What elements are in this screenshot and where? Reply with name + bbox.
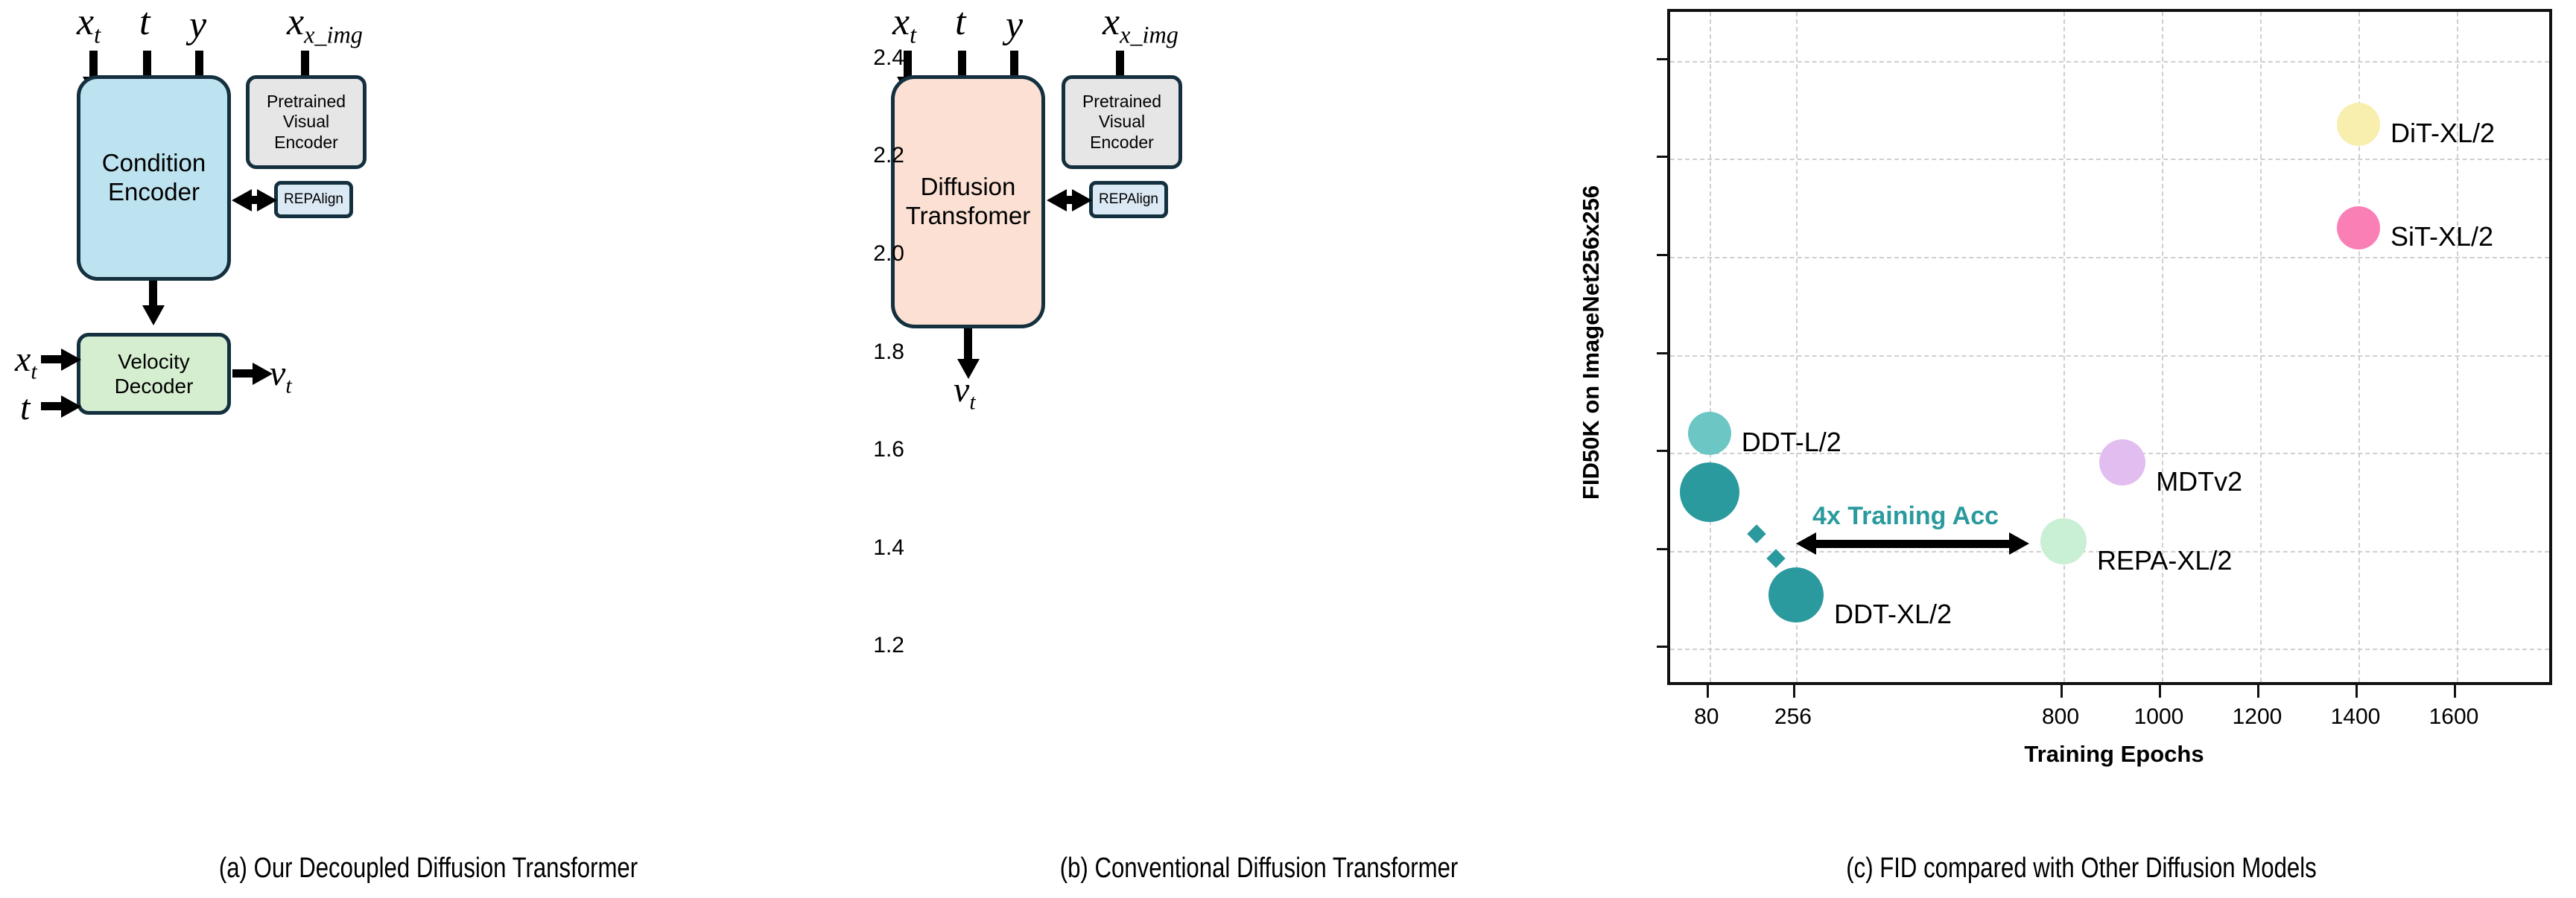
- chart-y-tick-mark: [1657, 352, 1669, 354]
- output-symbol-vt-b: vt: [954, 372, 976, 413]
- chart-y-tick-label: 2.0: [873, 241, 904, 267]
- chart-bubble-label: MDTv2: [2156, 466, 2242, 497]
- pretrained-encoder-line1-b: Pretrained: [1082, 92, 1161, 112]
- pretrained-encoder-line2-b: Visual: [1082, 112, 1161, 132]
- pretrained-encoder-line3-a: Encoder: [267, 133, 346, 153]
- chart-y-tick-mark: [1657, 450, 1669, 452]
- chart-gridline-horizontal: [1670, 159, 2549, 160]
- chart-gridline-vertical: [2260, 12, 2262, 682]
- chart-bubble-label: REPA-XL/2: [2097, 545, 2232, 576]
- velocity-decoder-line2: Decoder: [115, 374, 194, 398]
- chart-bubble-repa-xl-2[interactable]: [2040, 518, 2087, 564]
- input-symbol-ximg-a: xx_img: [287, 3, 363, 47]
- arrow-y-to-condition-encoder: [195, 51, 203, 77]
- arrow-condition-encoder-repalign: [251, 196, 258, 204]
- chart-bubble-sit-xl-2[interactable]: [2337, 206, 2380, 249]
- input-symbol-y-a: y: [189, 6, 206, 45]
- arrow-t-to-diffusion-transformer: [958, 51, 966, 77]
- input-symbol-xt-a: xt: [77, 3, 101, 47]
- arrow-ximg-to-pretrained-encoder-b: [1116, 51, 1124, 77]
- arrow-velocity-decoder-output: [232, 369, 253, 378]
- chart-y-tick-label: 2.4: [873, 45, 904, 71]
- chart-y-tick-mark: [1657, 548, 1669, 550]
- panel-a-decoupled-diffusion-transformer: xt t y xx_img Condition Encoder Pretrain…: [0, 0, 857, 898]
- caption-panel-a: (a) Our Decoupled Diffusion Transformer: [77, 853, 780, 885]
- node-diffusion-transformer[interactable]: Diffusion Transfomer: [891, 75, 1045, 328]
- chart-x-tick-label: 1600: [2429, 704, 2479, 730]
- node-condition-encoder[interactable]: Condition Encoder: [77, 75, 231, 281]
- chart-x-tick-mark: [1793, 685, 1795, 698]
- arrow-ximg-to-pretrained-encoder-a: [301, 51, 309, 77]
- caption-panel-c: (c) FID compared with Other Diffusion Mo…: [1676, 853, 2487, 885]
- chart-y-tick-mark: [1657, 646, 1669, 648]
- chart-bubble-ddt-l-2[interactable]: [1688, 412, 1731, 455]
- node-pretrained-visual-encoder-b[interactable]: Pretrained Visual Encoder: [1062, 75, 1182, 169]
- arrow-diffusion-transformer-output: [964, 328, 972, 360]
- chart-bubble-dit-xl-2[interactable]: [2337, 103, 2380, 146]
- chart-y-tick-mark: [1657, 58, 1669, 60]
- chart-connector-diamond: [1747, 525, 1766, 544]
- chart-x-tick-label: 1400: [2331, 704, 2381, 730]
- arrow-y-to-diffusion-transformer: [1010, 51, 1018, 77]
- input-symbol-t-a: t: [139, 3, 150, 42]
- arrow-xt-to-diffusion-transformer: [904, 51, 912, 77]
- arrow-xt-to-condition-encoder: [89, 51, 98, 77]
- chart-bubble-label: SiT-XL/2: [2391, 221, 2493, 252]
- node-velocity-decoder[interactable]: Velocity Decoder: [77, 333, 231, 415]
- chart-x-tick-mark: [1707, 685, 1709, 698]
- chart-y-tick-label: 2.2: [873, 143, 904, 168]
- input-symbol-ximg-b: xx_img: [1103, 3, 1178, 47]
- chart-gridline-vertical: [2162, 12, 2163, 682]
- chart-x-tick-label: 800: [2042, 704, 2079, 730]
- chart-gridline-vertical: [2457, 12, 2458, 682]
- chart-bubble-ddt-xl-2-80ep[interactable]: [1680, 462, 1739, 522]
- node-repalign-a[interactable]: REPAlign: [274, 181, 353, 218]
- side-input-xt: xt: [15, 342, 37, 383]
- chart-x-tick-mark: [2061, 685, 2063, 698]
- diffusion-transformer-line1: Diffusion: [906, 173, 1030, 202]
- chart-y-tick-label: 1.4: [873, 535, 904, 561]
- side-input-t: t: [20, 390, 30, 426]
- repalign-label-b: REPAlign: [1099, 191, 1158, 208]
- arrow-t-to-condition-encoder: [143, 51, 151, 77]
- chart-y-tick-label: 1.6: [873, 437, 904, 462]
- pretrained-encoder-line3-b: Encoder: [1082, 133, 1161, 153]
- condition-encoder-line2: Encoder: [102, 178, 206, 207]
- chart-x-tick-label: 256: [1774, 704, 1812, 730]
- input-symbol-y-b: y: [1006, 6, 1023, 45]
- chart-plot-area: 4x Training AccDiT-XL/2SiT-XL/2MDTv2REPA…: [1667, 9, 2552, 685]
- node-pretrained-visual-encoder-a[interactable]: Pretrained Visual Encoder: [246, 75, 367, 169]
- node-repalign-b[interactable]: REPAlign: [1089, 181, 1168, 218]
- input-symbol-t-b: t: [955, 3, 965, 42]
- chart-y-tick-label: 1.8: [873, 340, 904, 365]
- chart-x-axis-label: Training Epochs: [2024, 741, 2204, 768]
- arrow-diffusion-transformer-repalign: [1066, 196, 1073, 204]
- chart-x-tick-label: 1200: [2233, 704, 2282, 730]
- pretrained-encoder-line1-a: Pretrained: [267, 92, 346, 112]
- chart-bubble-label: DiT-XL/2: [2391, 118, 2495, 149]
- chart-gridline-horizontal: [1670, 61, 2549, 63]
- chart-y-tick-mark: [1657, 156, 1669, 158]
- chart-training-acceleration-arrow: [1815, 540, 2010, 548]
- chart-x-tick-mark: [2355, 685, 2358, 698]
- chart-y-tick-mark: [1657, 254, 1669, 256]
- chart-x-tick-mark: [2454, 685, 2456, 698]
- chart-bubble-label: DDT-XL/2: [1834, 599, 1952, 630]
- pretrained-encoder-line2-a: Visual: [267, 112, 346, 132]
- chart-x-tick-mark: [2159, 685, 2161, 698]
- chart-x-tick-label: 1000: [2134, 704, 2184, 730]
- chart-gridline-vertical: [2063, 12, 2065, 682]
- chart-gridline-horizontal: [1670, 257, 2549, 258]
- chart-y-tick-label: 1.2: [873, 633, 904, 658]
- arrow-condition-encoder-to-velocity-decoder: [149, 281, 157, 306]
- chart-annotation-4x-training-acc: 4x Training Acc: [1812, 502, 1999, 531]
- condition-encoder-line1: Condition: [102, 149, 206, 178]
- repalign-label-a: REPAlign: [284, 191, 343, 208]
- chart-x-tick-mark: [2257, 685, 2259, 698]
- diffusion-transformer-line2: Transfomer: [906, 202, 1030, 231]
- chart-bubble-label: DDT-L/2: [1742, 427, 1841, 458]
- chart-gridline-vertical: [1710, 12, 1711, 682]
- chart-gridline-horizontal: [1670, 355, 2549, 357]
- caption-panel-b: (b) Conventional Diffusion Transformer: [929, 853, 1589, 885]
- output-symbol-vt-a: vt: [270, 356, 292, 397]
- chart-gridline-horizontal: [1670, 649, 2549, 650]
- arrow-xt-to-velocity-decoder: [41, 355, 62, 363]
- velocity-decoder-line1: Velocity: [115, 349, 194, 374]
- chart-bubble-ddt-xl-2[interactable]: [1768, 567, 1824, 622]
- panel-b-conventional-diffusion-transformer: xt t y xx_img Diffusion Transfomer Pretr…: [857, 0, 1661, 898]
- chart-x-tick-label: 80: [1694, 704, 1719, 730]
- chart-bubble-mdtv2[interactable]: [2099, 439, 2145, 485]
- input-symbol-xt-b: xt: [892, 3, 916, 47]
- arrow-t-to-velocity-decoder: [41, 402, 62, 410]
- chart-y-axis-label: FID50K on ImageNet256x256: [1578, 185, 1605, 500]
